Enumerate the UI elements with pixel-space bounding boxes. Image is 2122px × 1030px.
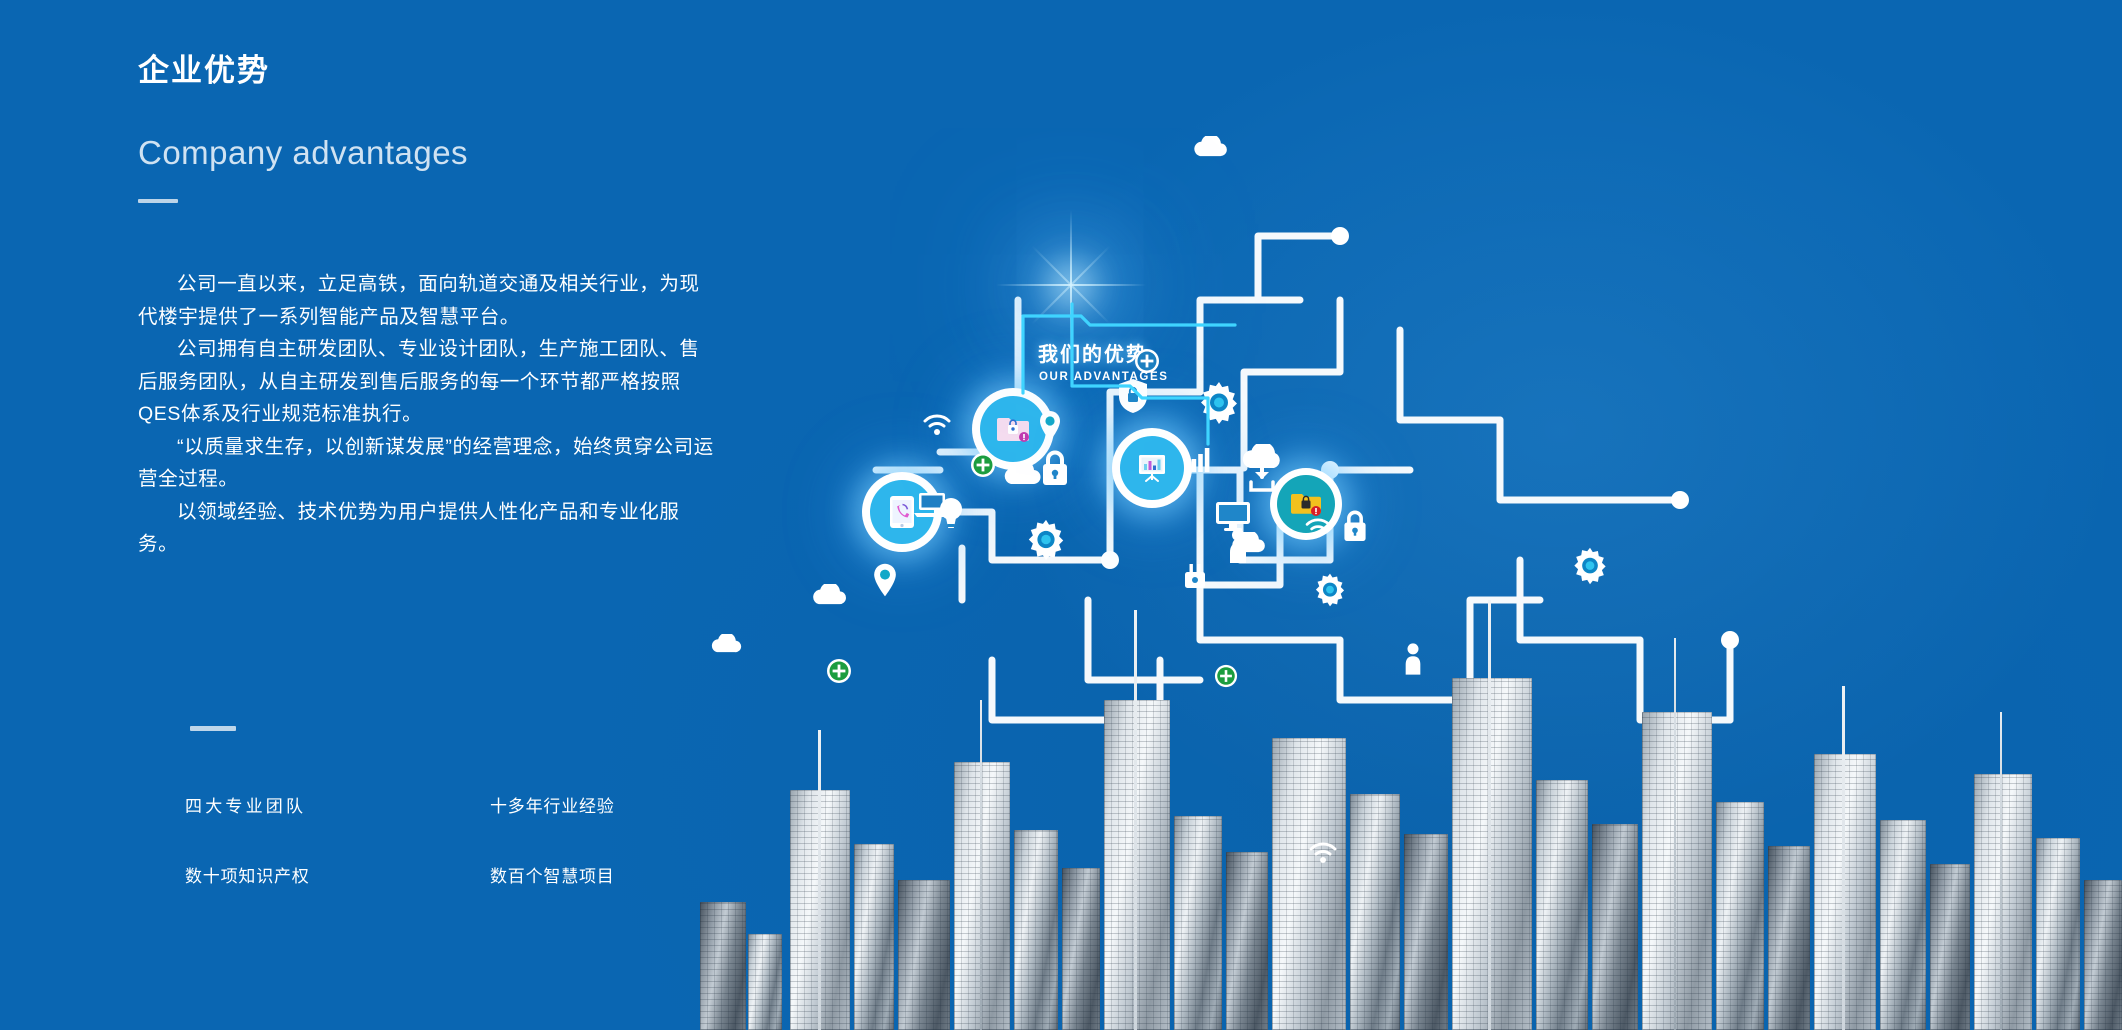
padlock-icon	[1038, 448, 1072, 488]
plus-node-icon	[1134, 348, 1160, 374]
cloud-icon	[708, 634, 744, 654]
section-header: 企业优势 Company advantages	[138, 52, 938, 203]
stat-item: 数十项知识产权	[185, 865, 490, 889]
wifi-icon	[1304, 518, 1332, 538]
lightbulb-icon	[938, 496, 964, 532]
secure-folder-icon	[996, 415, 1030, 443]
paragraph: “以质量求生存，以创新谋发展”的经营理念，始终贯穿公司运营全过程。	[138, 431, 718, 496]
paragraph: 公司拥有自主研发团队、专业设计团队，生产施工团队、售后服务团队，从自主研发到售后…	[138, 333, 718, 431]
stat-item: 十多年行业经验	[490, 795, 745, 819]
paragraph: 以领域经验、技术优势为用户提供人性化产品和专业化服务。	[138, 496, 718, 561]
cloud-icon	[808, 584, 850, 606]
body-divider	[190, 726, 236, 731]
wifi-icon	[1308, 842, 1338, 864]
cityscape	[640, 600, 2122, 1030]
plug-icon	[1180, 562, 1210, 592]
person-icon	[1226, 528, 1250, 564]
plus-node-icon	[970, 452, 996, 478]
stat-item: 数百个智慧项目	[490, 865, 745, 889]
cloud-icon	[1190, 136, 1230, 158]
plus-node-icon	[1214, 664, 1238, 688]
page-title-cn: 企业优势	[138, 52, 938, 89]
gear-icon	[1570, 546, 1610, 586]
paragraph: 公司一直以来，立足高铁，面向轨道交通及相关行业，为现代楼宇提供了一系列智能产品及…	[138, 268, 718, 333]
location-pin-icon	[872, 562, 898, 598]
stats-grid: 四大专业团队 十多年行业经验 数十项知识产权 数百个智慧项目	[185, 795, 745, 889]
title-divider	[138, 199, 178, 203]
page-title-en: Company advantages	[138, 133, 938, 173]
plus-node-icon	[826, 658, 852, 684]
body-copy: 公司一直以来，立足高铁，面向轨道交通及相关行业，为现代楼宇提供了一系列智能产品及…	[138, 268, 738, 561]
wifi-icon	[922, 414, 952, 436]
page-root: 我们的优势 OUR ADVANTAGES 企业优势 Company advant…	[0, 0, 2122, 1030]
stat-item: 四大专业团队	[185, 795, 490, 819]
padlock-icon	[1340, 508, 1370, 544]
gear-icon	[1024, 518, 1068, 562]
location-pin-icon	[1038, 410, 1062, 442]
badge-connector-lines	[1070, 300, 1310, 500]
light-burst	[1070, 284, 1072, 286]
gear-icon	[1312, 572, 1348, 608]
person-icon	[1402, 642, 1424, 676]
